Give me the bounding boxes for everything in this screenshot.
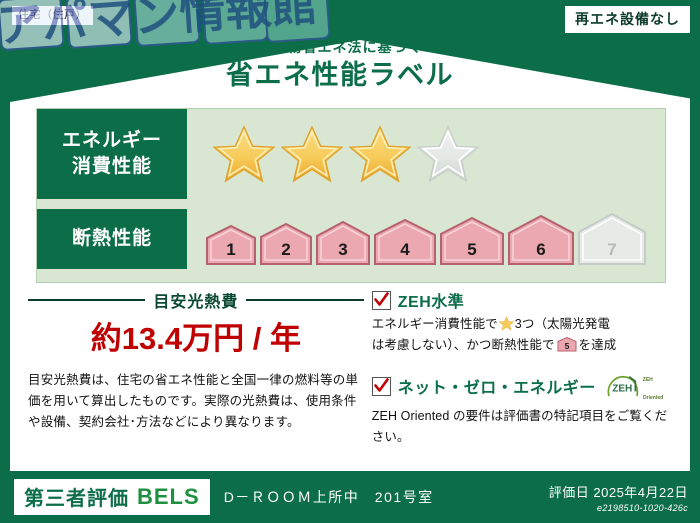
inline-star-icon [499,316,514,331]
grade-house-label: 3 [315,240,371,260]
bels-badge: 第三者評価 BELS [14,479,210,515]
label-title-block: 建築物省エネ法に基づく 省エネ性能ラベル [0,38,680,92]
grade-house-label: 5 [439,240,505,260]
grade-house-label: 7 [577,240,647,260]
zeh-logo: ZEH ZEH Oriented [606,368,664,404]
zeh-column: ZEH水準 エネルギー消費性能で3つ（太陽光発電は考慮しない）、かつ断熱性能で5… [364,288,672,438]
energy-performance-row: エネルギー 消費性能 [37,109,665,199]
insulation-grade-scale: 1 2 3 4 [187,209,665,269]
insulation-performance-row: 断熱性能 1 2 3 [37,209,665,269]
star-list [213,124,479,184]
zeh-logo-sub2: Oriented [643,395,664,401]
grade-house-2: 2 [259,222,313,266]
evaluation-info: 評価日 2025年4月22日 e2198510-1020-426c [549,482,688,513]
energy-label-line2: 消費性能 [72,154,152,180]
property-address: D－ＲＯＯＭ上所中 201号室 [224,487,434,507]
zeh-desc-pre: エネルギー消費性能で [372,317,498,331]
zeh-logo-sub1: ZEH [643,377,653,383]
zeh-house-logo-icon: ZEH [606,374,640,398]
unit-type-badge: 住宅（住戸） [12,6,93,25]
grade-house-6: 6 [507,214,575,266]
utility-cost-heading: 目安光熱費 [28,288,364,312]
insulation-label-text: 断熱性能 [72,226,152,252]
zeh-standard-checkbox[interactable] [372,291,391,310]
energy-performance-label: エネルギー 消費性能 [37,109,187,199]
star-filled-icon [213,124,275,184]
check-icon [374,378,389,394]
star-empty-icon [417,124,479,184]
zeh-desc-stars: 3つ（太陽光発電 [515,317,610,331]
grade-house-4: 4 [373,218,437,266]
svg-text:5: 5 [564,341,569,351]
performance-panel: エネルギー 消費性能 [36,108,666,283]
zeh-standard-row: ZEH水準 [372,288,672,312]
utility-cost-value: 約13.4万円 / 年 [28,316,364,362]
zeh-netzero-title: ネット・ゼロ・エネルギー [398,374,596,398]
utility-cost-column: 目安光熱費 約13.4万円 / 年 目安光熱費は、住宅の省エネ性能と全国一律の燃… [28,288,364,438]
utility-cost-heading-text: 目安光熱費 [153,288,238,312]
third-party-label: 第三者評価 [24,482,129,511]
svg-text:ZEH: ZEH [612,383,632,394]
zeh-desc-post: を達成 [579,338,617,352]
grade-house-3: 3 [315,220,371,266]
zeh-standard-title: ZEH水準 [398,288,465,312]
zeh-netzero-checkbox[interactable] [372,377,391,396]
zeh-netzero-description: ZEH Oriented の要件は評価書の特記項目をご覧ください。 [372,406,672,448]
heading-rule-left [28,299,145,301]
lower-content: 目安光熱費 約13.4万円 / 年 目安光熱費は、住宅の省エネ性能と全国一律の燃… [28,288,672,438]
title-main: 省エネ性能ラベル [0,58,680,92]
zeh-desc-mid: は考慮しない）、かつ断熱性能で [372,338,555,352]
grade-house-5: 5 [439,216,505,266]
grade-house-label: 6 [507,240,575,260]
inline-grade-badge-icon: 5 [557,337,577,352]
evaluation-id: e2198510-1020-426c [549,503,688,513]
zeh-standard-description: エネルギー消費性能で3つ（太陽光発電は考慮しない）、かつ断熱性能で5を達成 [372,314,672,356]
grade-house-label: 1 [205,240,257,260]
grade-house-1: 1 [205,224,257,266]
star-filled-icon [281,124,343,184]
grade-house-list: 1 2 3 4 [205,212,647,266]
renewable-equipment-badge: 再エネ設備なし [565,6,690,33]
insulation-performance-label: 断熱性能 [37,209,187,269]
energy-label-line1: エネルギー [62,128,162,154]
grade-house-label: 2 [259,240,313,260]
evaluation-date: 評価日 2025年4月22日 [549,482,688,501]
title-subtitle: 建築物省エネ法に基づく [0,38,680,56]
grade-house-7: 7 [577,212,647,266]
check-icon [374,292,389,308]
energy-star-rating [187,109,665,199]
zeh-netzero-row: ネット・ゼロ・エネルギー ZEH ZEH Oriented [372,368,672,404]
grade-house-label: 4 [373,240,437,260]
utility-cost-note: 目安光熱費は、住宅の省エネ性能と全国一律の燃料等の単価を用いて算出したものです。… [28,370,364,433]
energy-label-root: 建築物省エネ法に基づく 省エネ性能ラベル 住宅（住戸） 再エネ設備なし エネルギ… [0,0,700,523]
star-filled-icon [349,124,411,184]
bels-mark: BELS [137,484,200,510]
heading-rule-right [246,299,363,301]
footer-bar: 第三者評価 BELS D－ＲＯＯＭ上所中 201号室 評価日 2025年4月22… [0,471,700,523]
